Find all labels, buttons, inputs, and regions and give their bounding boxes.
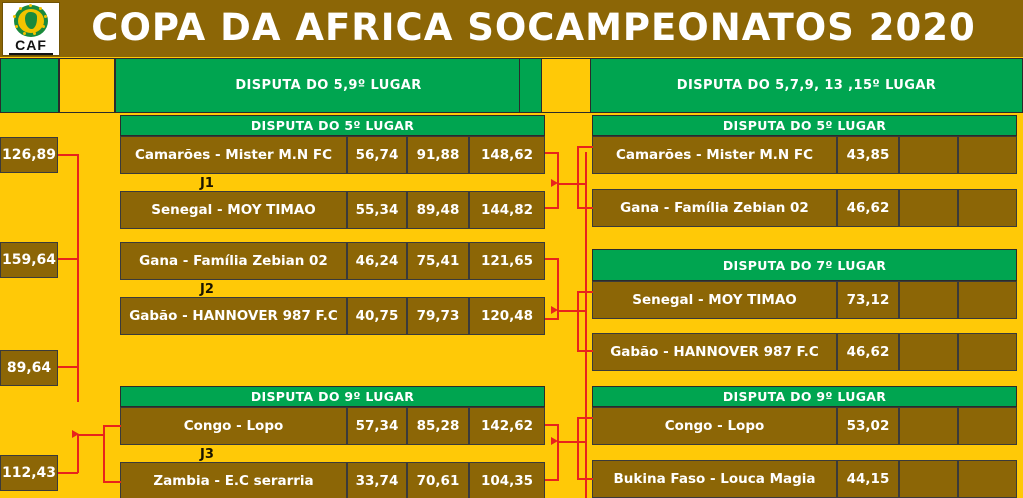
left-value-text: 89,64 [7, 360, 51, 376]
score-cell-1: 44,15 [837, 460, 899, 498]
table-row[interactable]: Senegal - MOY TIMAO 55,34 89,48 144,82 [120, 191, 545, 229]
team-name-cell: Senegal - MOY TIMAO [120, 191, 347, 229]
team-name-cell: Gabão - HANNOVER 987 F.C [592, 333, 837, 371]
score-cell-3 [958, 333, 1017, 371]
connector-arrow-icon [551, 179, 558, 187]
connector-arrow-icon [72, 430, 79, 438]
match-label: J2 [200, 279, 214, 299]
team-name-cell: Camarões - Mister M.N FC [120, 136, 347, 174]
score-cell-3 [958, 407, 1017, 445]
left-group-title: DISPUTA DO 9º LUGAR [120, 386, 545, 407]
band-left-stub [0, 58, 59, 113]
connector-line [77, 434, 105, 436]
right-group-title-text: DISPUTA DO 5º LUGAR [723, 118, 886, 133]
connector-line [58, 154, 78, 156]
left-value-box: 112,43 [0, 455, 58, 491]
score-cell-2: 79,73 [407, 297, 469, 335]
score-cell-3: 120,48 [469, 297, 545, 335]
connector-line [58, 472, 78, 474]
left-value-box: 126,89 [0, 137, 58, 173]
table-row[interactable]: Congo - Lopo 57,34 85,28 142,62 [120, 407, 545, 445]
caf-globe-icon [11, 5, 51, 37]
connector-arrow-icon [551, 306, 558, 314]
left-value-box: 159,64 [0, 242, 58, 278]
connector-spine [585, 152, 587, 498]
table-row[interactable]: Gabão - HANNOVER 987 F.C 40,75 79,73 120… [120, 297, 545, 335]
connector-line [577, 478, 593, 480]
connector-line [557, 441, 587, 443]
score-cell-1: 40,75 [347, 297, 407, 335]
table-row[interactable]: Congo - Lopo 53,02 [592, 407, 1017, 445]
connector-line [577, 291, 593, 293]
score-cell-1: 56,74 [347, 136, 407, 174]
score-cell-3 [958, 189, 1017, 227]
connector-line [103, 425, 105, 482]
left-value-text: 112,43 [2, 465, 56, 481]
band-mid-stub [519, 58, 542, 113]
connector-line [103, 481, 121, 483]
table-row[interactable]: Gana - Família Zebian 02 46,62 [592, 189, 1017, 227]
score-cell-2 [899, 407, 958, 445]
team-name-cell: Senegal - MOY TIMAO [592, 281, 837, 319]
table-row[interactable]: Zambia - E.C serarria 33,74 70,61 104,35 [120, 462, 545, 498]
caf-logo-icon: CAF [2, 2, 60, 56]
score-cell-3 [958, 281, 1017, 319]
connector-line [58, 366, 78, 368]
left-value-text: 159,64 [2, 252, 56, 268]
score-cell-2 [899, 460, 958, 498]
connector-line [545, 479, 559, 481]
score-cell-1: 33,74 [347, 462, 407, 498]
match-label: J1 [200, 173, 214, 193]
band-right-gap [541, 58, 591, 113]
right-group-title: DISPUTA DO 9º LUGAR [592, 386, 1017, 407]
connector-line [77, 435, 79, 473]
left-group-title-text: DISPUTA DO 5º LUGAR [251, 118, 414, 133]
table-row[interactable]: Gabão - HANNOVER 987 F.C 46,62 [592, 333, 1017, 371]
score-cell-3 [958, 136, 1017, 174]
score-cell-1: 46,62 [837, 333, 899, 371]
tournament-bracket-page: CAF COPA DA AFRICA SOCAMPEONATOS 2020 DI… [0, 0, 1023, 498]
caf-logo-underline [9, 53, 53, 55]
left-value-box: 89,64 [0, 350, 58, 386]
score-cell-3: 104,35 [469, 462, 545, 498]
connector-line [577, 146, 579, 208]
right-group-title-text: DISPUTA DO 7º LUGAR [723, 258, 886, 273]
band-right-label: DISPUTA DO 5,7,9, 13 ,15º LUGAR [591, 59, 1022, 112]
right-group-title: DISPUTA DO 5º LUGAR [592, 115, 1017, 136]
connector-line [577, 417, 593, 419]
score-cell-1: 46,62 [837, 189, 899, 227]
team-name-cell: Camarões - Mister M.N FC [592, 136, 837, 174]
table-row[interactable]: Camarões - Mister M.N FC 56,74 91,88 148… [120, 136, 545, 174]
left-group-title: DISPUTA DO 5º LUGAR [120, 115, 545, 136]
team-name-cell: Zambia - E.C serarria [120, 462, 347, 498]
score-cell-3: 142,62 [469, 407, 545, 445]
match-label: J3 [200, 444, 214, 464]
connector-arrow-icon [551, 437, 558, 445]
connector-line [557, 183, 587, 185]
connector-line [557, 310, 587, 312]
connector-line [545, 318, 559, 320]
score-cell-1: 53,02 [837, 407, 899, 445]
score-cell-2 [899, 333, 958, 371]
band-right-title: DISPUTA DO 5,7,9, 13 ,15º LUGAR [590, 58, 1023, 113]
score-cell-1: 43,85 [837, 136, 899, 174]
score-cell-2 [899, 281, 958, 319]
connector-line [577, 207, 593, 209]
connector-line [77, 154, 79, 402]
right-group-title-text: DISPUTA DO 9º LUGAR [723, 389, 886, 404]
right-group-title: DISPUTA DO 7º LUGAR [592, 249, 1017, 281]
table-row[interactable]: Bukina Faso - Louca Magia 44,15 [592, 460, 1017, 498]
score-cell-2: 70,61 [407, 462, 469, 498]
connector-line [577, 350, 593, 352]
connector-line [577, 417, 579, 479]
score-cell-3: 148,62 [469, 136, 545, 174]
page-title: COPA DA AFRICA SOCAMPEONATOS 2020 [60, 6, 1023, 51]
caf-logo-text: CAF [15, 38, 47, 52]
connector-line [103, 425, 121, 427]
score-cell-2: 91,88 [407, 136, 469, 174]
left-value-text: 126,89 [2, 147, 56, 163]
score-cell-1: 55,34 [347, 191, 407, 229]
band-left-title: DISPUTA DO 5,9º LUGAR [115, 58, 542, 113]
score-cell-3 [958, 460, 1017, 498]
table-row[interactable]: Camarões - Mister M.N FC 43,85 [592, 136, 1017, 174]
score-cell-3: 121,65 [469, 242, 545, 280]
score-cell-2: 89,48 [407, 191, 469, 229]
table-row[interactable]: Senegal - MOY TIMAO 73,12 [592, 281, 1017, 319]
left-group-title-text: DISPUTA DO 9º LUGAR [251, 389, 414, 404]
table-row[interactable]: Gana - Família Zebian 02 46,24 75,41 121… [120, 242, 545, 280]
score-cell-2 [899, 136, 958, 174]
score-cell-1: 73,12 [837, 281, 899, 319]
band-left-label: DISPUTA DO 5,9º LUGAR [116, 59, 541, 112]
band-left-gap [59, 58, 115, 113]
connector-line [577, 291, 579, 351]
connector-line [58, 258, 78, 260]
team-name-cell: Gabão - HANNOVER 987 F.C [120, 297, 347, 335]
score-cell-1: 46,24 [347, 242, 407, 280]
team-name-cell: Bukina Faso - Louca Magia [592, 460, 837, 498]
connector-line [557, 424, 559, 479]
team-name-cell: Gana - Família Zebian 02 [592, 189, 837, 227]
score-cell-2: 85,28 [407, 407, 469, 445]
team-name-cell: Congo - Lopo [120, 407, 347, 445]
team-name-cell: Gana - Família Zebian 02 [120, 242, 347, 280]
score-cell-2: 75,41 [407, 242, 469, 280]
score-cell-3: 144,82 [469, 191, 545, 229]
score-cell-2 [899, 189, 958, 227]
score-cell-1: 57,34 [347, 407, 407, 445]
page-header: CAF COPA DA AFRICA SOCAMPEONATOS 2020 [0, 0, 1023, 57]
connector-line [577, 146, 593, 148]
team-name-cell: Congo - Lopo [592, 407, 837, 445]
